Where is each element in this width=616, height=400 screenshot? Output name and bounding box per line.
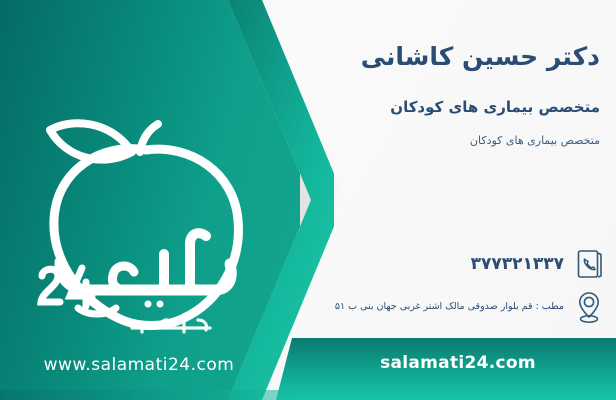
location-pin-icon [574, 290, 604, 322]
phone-row: ۳۷۷۳۲۱۳۳۷ [471, 248, 604, 280]
specialty-secondary: متخصص بیماری های کودکان [470, 134, 600, 147]
address-row: مطب : قم بلوار صدوقی مالک اشتر غربی جهان… [335, 290, 604, 322]
salamati24-logo: www.salamati24.com [14, 112, 264, 272]
apple-logo-icon [14, 112, 264, 362]
clinic-address: مطب : قم بلوار صدوقی مالک اشتر غربی جهان… [335, 301, 564, 312]
specialty-primary: متخصص بیماری های کودکان [390, 98, 600, 116]
footer-left-accent [0, 390, 300, 400]
logo-website-url: www.salamati24.com [14, 355, 264, 375]
business-card: www.salamati24.com دکتر حسین کاشانی متخص… [0, 0, 616, 400]
footer-website[interactable]: salamati24.com [300, 338, 616, 388]
phone-book-icon [574, 248, 604, 280]
phone-number[interactable]: ۳۷۷۳۲۱۳۳۷ [471, 254, 564, 274]
doctor-name: دکتر حسین کاشانی [361, 42, 600, 71]
